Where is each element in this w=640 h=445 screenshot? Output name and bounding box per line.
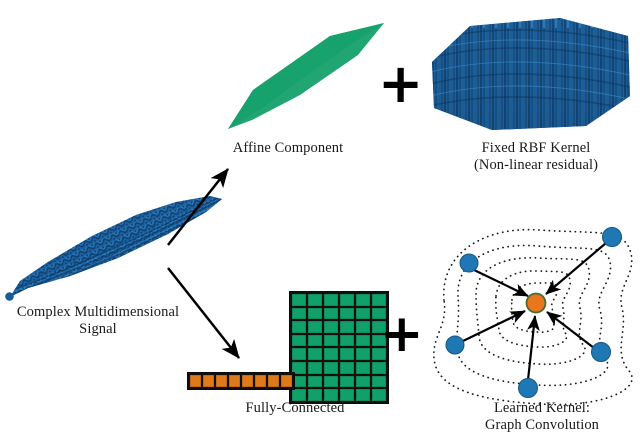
plus-operator-top: +: [378, 57, 423, 111]
matrix-cell: [356, 321, 370, 333]
label-fixed-rbf-kernel: Fixed RBF Kernel (Non-linear residual): [436, 140, 636, 174]
label-fully-connected: Fully-Connected: [205, 400, 385, 417]
matrix-cell: [292, 321, 306, 333]
matrix-cell: [308, 335, 322, 347]
vector-cell: [268, 375, 279, 387]
matrix-cell: [356, 335, 370, 347]
matrix-cell: [372, 376, 386, 388]
vector-cell: [242, 375, 253, 387]
matrix-cell: [324, 362, 338, 374]
fully-connected-input-vector: [187, 372, 295, 390]
fully-connected-weight-matrix: [289, 291, 389, 404]
matrix-cell: [292, 389, 306, 401]
matrix-cell: [324, 321, 338, 333]
matrix-cell: [308, 321, 322, 333]
vector-cell: [216, 375, 227, 387]
plus-operator-bottom: +: [380, 308, 424, 360]
graph-convolution-diagram: [434, 228, 632, 405]
matrix-cell: [324, 376, 338, 388]
matrix-cell: [308, 308, 322, 320]
graph-center-node: [527, 294, 546, 313]
matrix-cell: [324, 308, 338, 320]
matrix-cell: [292, 348, 306, 360]
label-learned-kernel-graph-convolution: Learned Kernel: Graph Convolution: [444, 400, 640, 434]
matrix-cell: [292, 308, 306, 320]
matrix-cell: [340, 308, 354, 320]
fixed-rbf-kernel-plot: [425, 12, 637, 136]
matrix-cell: [340, 376, 354, 388]
affine-component-plot: [228, 23, 384, 129]
matrix-cell: [356, 376, 370, 388]
matrix-cell: [324, 348, 338, 360]
label-affine-component: Affine Component: [198, 140, 378, 157]
vector-cell: [203, 375, 214, 387]
matrix-cell: [340, 335, 354, 347]
matrix-cell: [356, 308, 370, 320]
matrix-cell: [292, 335, 306, 347]
matrix-cell: [308, 348, 322, 360]
matrix-cell: [324, 389, 338, 401]
vector-cell: [255, 375, 266, 387]
matrix-cell: [324, 335, 338, 347]
label-complex-multidimensional-signal: Complex Multidimensional Signal: [0, 304, 196, 338]
matrix-cell: [340, 348, 354, 360]
vector-cell: [281, 375, 292, 387]
matrix-cell: [340, 321, 354, 333]
matrix-cell: [324, 294, 338, 306]
vector-cell: [190, 375, 201, 387]
matrix-cell: [340, 362, 354, 374]
matrix-cell: [372, 389, 386, 401]
matrix-cell: [356, 294, 370, 306]
vector-cell: [229, 375, 240, 387]
matrix-cell: [356, 348, 370, 360]
matrix-cell: [308, 362, 322, 374]
matrix-cell: [340, 294, 354, 306]
matrix-cell: [356, 362, 370, 374]
matrix-cell: [308, 389, 322, 401]
matrix-cell: [340, 389, 354, 401]
matrix-cell: [292, 294, 306, 306]
matrix-cell: [356, 389, 370, 401]
matrix-cell: [308, 376, 322, 388]
matrix-cell: [308, 294, 322, 306]
